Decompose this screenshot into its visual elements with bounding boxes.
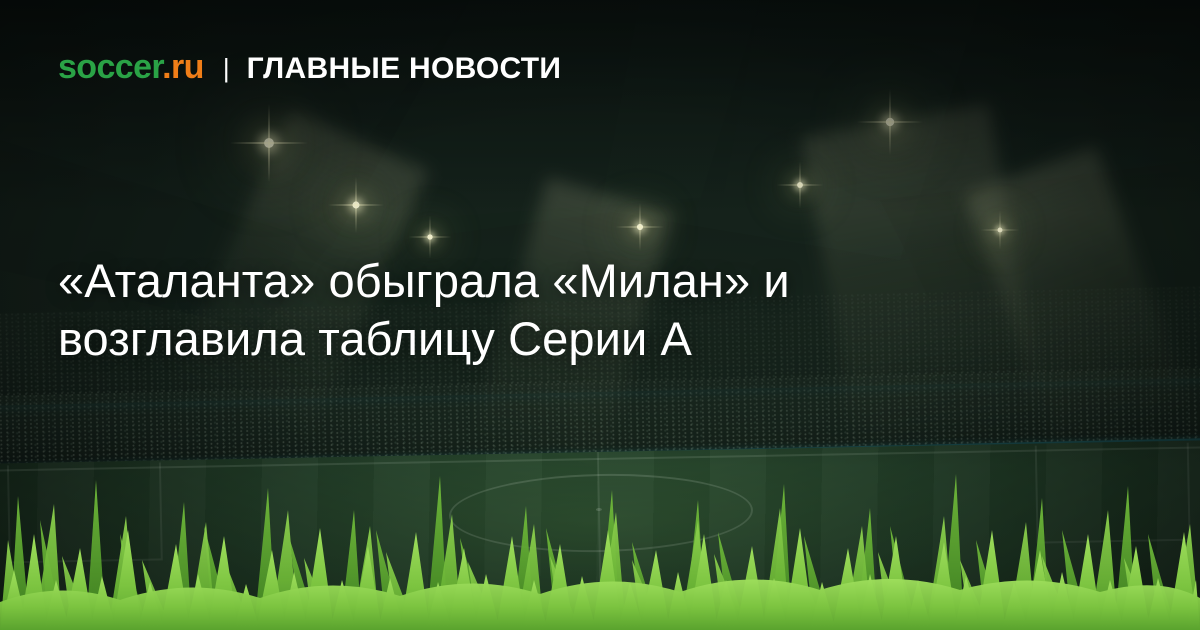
headline-line-1: «Аталанта» обыграла «Милан» и: [58, 252, 1058, 310]
header-kicker: ГЛАВНЫЕ НОВОСТИ: [247, 54, 562, 84]
headline-line-2: возглавила таблицу Серии А: [58, 310, 1058, 368]
social-share-card: soccer.ru | ГЛАВНЫЕ НОВОСТИ «Аталанта» о…: [0, 0, 1200, 630]
logo-text-primary: soccer: [58, 48, 162, 86]
header: soccer.ru | ГЛАВНЫЕ НОВОСТИ: [58, 50, 561, 85]
page-title: «Аталанта» обыграла «Милан» и возглавила…: [58, 252, 1058, 368]
logo-text-dot: .: [162, 48, 171, 86]
logo-text-tld: ru: [171, 48, 204, 86]
site-logo[interactable]: soccer.ru: [58, 50, 204, 84]
header-separator: |: [223, 53, 230, 84]
